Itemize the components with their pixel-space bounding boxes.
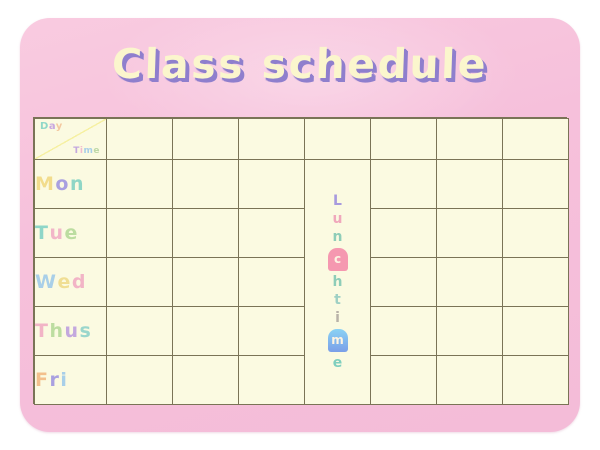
schedule-cell[interactable] (107, 258, 173, 307)
schedule-table: Day Time MonLunchtimeTueWedThusFri (34, 118, 569, 405)
time-letter: m (84, 146, 94, 156)
schedule-cell[interactable] (239, 307, 305, 356)
schedule-page: Class schedule Day Time (0, 0, 600, 450)
day-letter: W (35, 273, 57, 292)
day-letter: M (35, 175, 55, 194)
day-letter: a (49, 121, 56, 132)
schedule-cell[interactable] (371, 209, 437, 258)
schedule-cell[interactable] (173, 356, 239, 405)
lunchtime-letter: m (328, 329, 348, 352)
day-time-header-cell: Day Time (35, 119, 107, 160)
day-letter: d (72, 273, 87, 292)
table-row: MonLunchtime (35, 160, 569, 209)
time-slot-header[interactable] (305, 119, 371, 160)
day-letter: e (57, 273, 71, 292)
day-letter: T (35, 322, 49, 341)
day-letter: u (65, 322, 80, 341)
lunchtime-cell: Lunchtime (305, 160, 371, 405)
schedule-cell[interactable] (107, 209, 173, 258)
schedule-cell[interactable] (107, 356, 173, 405)
schedule-cell[interactable] (239, 209, 305, 258)
day-letter: u (49, 224, 64, 243)
schedule-cell[interactable] (107, 160, 173, 209)
day-letter: r (49, 371, 60, 390)
time-slot-header[interactable] (239, 119, 305, 160)
schedule-cell[interactable] (503, 160, 569, 209)
lunchtime-letter: i (335, 311, 340, 325)
schedule-cell[interactable] (173, 160, 239, 209)
time-letter: e (93, 146, 100, 156)
schedule-cell[interactable] (173, 307, 239, 356)
lunchtime-letter: c (328, 248, 348, 271)
lunchtime-letter: e (333, 356, 343, 370)
lunchtime-letter: t (334, 293, 341, 307)
lunchtime-letter: h (333, 275, 343, 289)
day-label-cell-wed: Wed (35, 258, 107, 307)
schedule-cell[interactable] (239, 258, 305, 307)
table-row: Tue (35, 209, 569, 258)
table-row: Thus (35, 307, 569, 356)
day-label-cell-fri: Fri (35, 356, 107, 405)
schedule-cell[interactable] (503, 258, 569, 307)
day-label-cell-thu: Thus (35, 307, 107, 356)
schedule-table-body: Day Time MonLunchtimeTueWedThusFri (35, 119, 569, 405)
day-letter: s (80, 322, 93, 341)
schedule-cell[interactable] (437, 356, 503, 405)
day-label-cell-tue: Tue (35, 209, 107, 258)
lunchtime-letter: L (333, 194, 342, 208)
schedule-cell[interactable] (503, 356, 569, 405)
time-slot-header[interactable] (173, 119, 239, 160)
day-header-label: Day (40, 121, 63, 132)
schedule-cell[interactable] (107, 307, 173, 356)
schedule-cell[interactable] (371, 307, 437, 356)
schedule-cell[interactable] (503, 209, 569, 258)
lunchtime-label: Lunchtime (305, 160, 370, 404)
schedule-cell[interactable] (371, 160, 437, 209)
lunchtime-letter: n (333, 230, 343, 244)
schedule-cell[interactable] (173, 209, 239, 258)
schedule-cell[interactable] (437, 209, 503, 258)
day-label-cell-mon: Mon (35, 160, 107, 209)
time-slot-header[interactable] (503, 119, 569, 160)
schedule-cell[interactable] (371, 356, 437, 405)
day-letter: y (56, 121, 63, 132)
table-header-row: Day Time (35, 119, 569, 160)
day-letter: i (60, 371, 68, 390)
schedule-cell[interactable] (437, 258, 503, 307)
day-letter: e (65, 224, 79, 243)
schedule-cell[interactable] (437, 160, 503, 209)
time-slot-header[interactable] (107, 119, 173, 160)
table-row: Wed (35, 258, 569, 307)
lunchtime-letter: u (333, 212, 343, 226)
time-slot-header[interactable] (437, 119, 503, 160)
day-letter: D (40, 121, 49, 132)
schedule-cell[interactable] (239, 356, 305, 405)
schedule-cell[interactable] (503, 307, 569, 356)
schedule-cell[interactable] (371, 258, 437, 307)
time-slot-header[interactable] (371, 119, 437, 160)
day-letter: T (35, 224, 49, 243)
schedule-cell[interactable] (239, 160, 305, 209)
schedule-cell[interactable] (437, 307, 503, 356)
schedule-table-container: Day Time MonLunchtimeTueWedThusFri (33, 117, 567, 404)
table-row: Fri (35, 356, 569, 405)
time-letter: T (73, 146, 80, 156)
schedule-cell[interactable] (173, 258, 239, 307)
day-letter: n (70, 175, 85, 194)
time-header-label: Time (73, 146, 100, 156)
day-letter: o (55, 175, 70, 194)
day-letter: F (35, 371, 49, 390)
day-letter: h (49, 322, 64, 341)
